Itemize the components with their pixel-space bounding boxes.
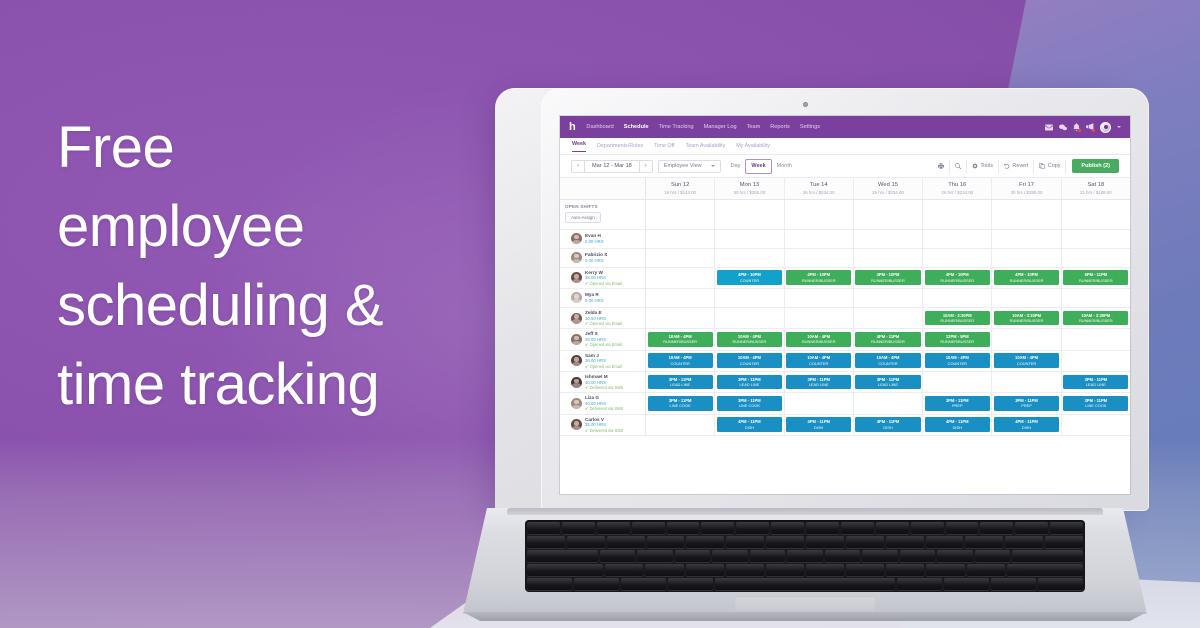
keyboard-key [862,550,897,562]
shift-block[interactable]: 10AM - 3:30PMRUNNER/BUSSER [994,311,1059,326]
shift-cells: 4PM - 11PMDISH4PM - 11PMDISH4PM - 11PMDI… [646,415,1130,435]
drag-handle-icon[interactable]: ⋮ [564,337,568,342]
calendar-cell[interactable]: 3PM - 11PMLEAD LINE [854,372,923,392]
calendar-cell[interactable] [1062,249,1130,267]
keyboard-key [607,536,645,548]
keyboard-key [712,550,747,562]
calendar-cell[interactable] [854,230,923,248]
calendar-cell[interactable] [715,230,784,248]
shift-block[interactable]: 3PM - 11PMLEAD LINE [1063,375,1128,390]
calendar-cell[interactable] [854,200,923,229]
calendar-cell[interactable] [1062,200,1130,229]
shift-cells: 10AM - 3:30PMRUNNER/BUSSER10AM - 3:30PMR… [646,308,1130,328]
shift-block[interactable]: 3PM - 11PMLINE COOK [648,396,713,411]
employee-label-cell[interactable]: ⋮Kerry W38.00 HRS✓ Opened via Email [560,268,646,288]
day-name: Mon 13 [715,182,783,188]
shift-block[interactable]: 3PM - 11PMLEAD LINE [786,375,851,390]
shift-role: RUNNER/BUSSER [925,318,990,323]
shift-block[interactable]: 4PM - 11PMDISH [786,417,851,432]
calendar-cell[interactable] [1062,415,1130,435]
calendar-cell[interactable] [992,289,1061,307]
keyboard-key [806,536,844,548]
calendar-cell[interactable]: 4PM - 11PMDISH [992,415,1061,435]
employee-row: ⋮Zelda E16.50 HRS✓ Opened via Email10AM … [560,308,1130,329]
shift-block[interactable]: 10AM - 3:30PMRUNNER/BUSSER [1063,311,1128,326]
webcam-icon [803,102,808,107]
search-button[interactable] [950,160,967,173]
day-column-header: Sun 12 16 hrs / $144.00 [646,178,715,199]
megaphone-icon[interactable] [1086,123,1094,131]
notification-dot [1092,129,1095,132]
shift-role: RUNNER/BUSSER [925,278,990,283]
calendar-cell[interactable]: 10AM - 4PMCOUNTER [854,351,923,371]
shift-block[interactable]: 3PM - 11PMLEAD LINE [717,375,782,390]
keyboard-key [900,550,935,562]
shift-block[interactable]: 3PM - 11PMLINE COOK [717,396,782,411]
shift-role: RUNNER/BUSSER [717,339,782,344]
drag-handle-icon[interactable]: ⋮ [564,295,568,300]
shift-block[interactable]: 3PM - 11PMLEAD LINE [648,375,713,390]
keyboard-row [527,536,1083,548]
trackpad [735,596,875,611]
calendar-cell[interactable] [785,393,854,413]
calendar-cell[interactable] [785,289,854,307]
keyboard-row [527,550,1083,562]
calendar-cell[interactable] [785,308,854,328]
day-week-month-toggle: Day Week Month [726,160,797,173]
employee-label-cell[interactable]: ⋮Sam J36.00 HRS✓ Opened via Email [560,351,646,371]
calendar-cell[interactable]: 3PM - 11PMLEAD LINE [785,372,854,392]
employee-row: ⋮Liza G40.00 HRS✓ Delivered via SMS3PM -… [560,393,1130,414]
employee-info: Carlos V35.00 HRS✓ Delivered via SMS [585,417,623,433]
shift-cells [646,289,1130,307]
calendar-cell[interactable] [854,393,923,413]
prev-week-button[interactable]: ‹ [572,161,584,172]
avatar[interactable] [571,377,582,388]
shift-block[interactable]: 4PM - 10PMRUNNER/BUSSER [994,270,1059,285]
tools-label: Tools [980,160,993,173]
keyboard-key [726,564,764,576]
check-icon: ✓ [585,428,588,433]
calendar-cell[interactable]: 10AM - 3:30PMRUNNER/BUSSER [992,308,1061,328]
calendar-cell[interactable] [854,249,923,267]
calendar-cell[interactable]: 10AM - 4PMRUNNER/BUSSER [715,329,784,349]
calendar-cell[interactable] [992,329,1061,349]
shift-block[interactable]: 10AM - 4PMCOUNTER [717,353,782,368]
calendar-cell[interactable] [646,289,715,307]
drag-handle-icon[interactable]: ⋮ [564,422,568,427]
keyboard-key [715,578,895,590]
drag-handle-icon[interactable]: ⋮ [564,401,568,406]
avatar[interactable] [571,292,582,303]
drag-handle-icon[interactable]: ⋮ [564,358,568,363]
check-icon: ✓ [585,364,588,369]
shift-role: RUNNER/BUSSER [1063,318,1128,323]
shift-role: LEAD LINE [855,382,920,387]
calendar-cell[interactable] [923,372,992,392]
calendar-cell[interactable]: 5PM - 11PMRUNNER/BUSSER [1062,268,1130,288]
calendar-cell[interactable]: 3PM - 11PMLINE COOK [715,393,784,413]
keyboard-key [567,536,605,548]
shift-role: RUNNER/BUSSER [1063,278,1128,283]
day-column-header: Tue 14 26 hrs / $234.00 [785,178,854,199]
calendar-cell[interactable] [992,249,1061,267]
shift-block[interactable]: 3PM - 11PMPREP [925,396,990,411]
calendar-cell[interactable] [1062,329,1130,349]
shift-block[interactable]: 3PM - 11PMLINE COOK [1063,396,1128,411]
day-column-header: Fri 17 30 hrs / $285.00 [992,178,1061,199]
shift-block[interactable]: 4PM - 11PMDISH [994,417,1059,432]
keyboard-key [600,550,635,562]
calendar-cell[interactable] [854,289,923,307]
calendar-cell[interactable] [1062,289,1130,307]
shift-cells: 3PM - 11PMLEAD LINE3PM - 11PMLEAD LINE3P… [646,372,1130,392]
keyboard-key [926,564,964,576]
open-shifts-label-cell: OPEN SHIFTS Auto-Assign [560,200,646,229]
shift-block[interactable]: 10AM - 4PMCOUNTER [994,353,1059,368]
calendar-cell[interactable]: 10AM - 4PMCOUNTER [785,351,854,371]
shift-block[interactable]: 10AM - 4PMCOUNTER [648,353,713,368]
publish-button[interactable]: Publish (2) [1072,159,1119,173]
keyboard-key [1007,564,1083,576]
notification-dot [1078,129,1081,132]
calendar-cell[interactable]: 3PM - 11PMLEAD LINE [715,372,784,392]
shift-block[interactable]: 10AM - 4PMCOUNTER [925,353,990,368]
date-range-label[interactable]: Mar 12 - Mar 18 [584,161,640,172]
calendar-cell[interactable]: 3PM - 11PMLEAD LINE [1062,372,1130,392]
keyboard-key [1005,536,1043,548]
avatar[interactable] [571,398,582,409]
open-shift-cells [646,200,1130,229]
avatar[interactable] [571,252,582,263]
employee-row: ⋮Evan H0.00 HRS [560,230,1130,249]
calendar-cell[interactable]: 4PM - 10PMRUNNER/BUSSER [923,268,992,288]
tab-time-off[interactable]: Time Off [654,143,674,149]
calendar-cell[interactable] [923,249,992,267]
keyboard-key [886,536,924,548]
day-summary: 16 hrs / $144.00 [646,190,714,195]
calendar-cell[interactable] [646,268,715,288]
calendar-cell[interactable] [715,289,784,307]
shift-block[interactable]: 12PM - 5PMRUNNER/BUSSER [925,332,990,347]
shift-block[interactable]: 4PM - 10PMCOUNTER [717,270,782,285]
calendar-cell[interactable] [715,200,784,229]
calendar-cell[interactable] [1062,351,1130,371]
next-week-button[interactable]: › [640,161,652,172]
calendar-cell[interactable]: 4PM - 11PMDISH [785,415,854,435]
shift-block[interactable]: 10AM - 4PMCOUNTER [786,353,851,368]
calendar-cell[interactable] [1062,230,1130,248]
keyboard-key [1012,550,1083,562]
shift-role: RUNNER/BUSSER [855,339,920,344]
employee-info: Evan H0.00 HRS [585,233,604,244]
calendar-cell[interactable] [785,249,854,267]
shift-block[interactable]: 3PM - 11PMPREP [994,396,1059,411]
calendar-cell[interactable] [854,308,923,328]
chevron-down-icon[interactable] [1117,126,1121,128]
shift-block[interactable]: 4PM - 11PMRUNNER/BUSSER [855,332,920,347]
shift-role: RUNNER/BUSSER [786,339,851,344]
avatar[interactable] [571,419,582,430]
shift-role: PREP [994,403,1059,408]
employee-label-cell[interactable]: ⋮Mya R0.00 HRS [560,289,646,307]
keyboard-key [1038,578,1083,590]
calendar-cell[interactable] [992,230,1061,248]
drag-handle-icon[interactable]: ⋮ [564,255,568,260]
employee-label-cell[interactable]: ⋮Carlos V35.00 HRS✓ Delivered via SMS [560,415,646,435]
day-name: Wed 15 [854,182,922,188]
keyboard-key [675,550,710,562]
copy-button[interactable]: Copy [1034,160,1066,173]
auto-assign-button[interactable]: Auto-Assign [565,212,601,223]
calendar-cell[interactable] [715,249,784,267]
employee-info: Jeff S28.00 HRS✓ Opened via Email [585,331,622,347]
shift-role: COUNTER [925,361,990,366]
calendar-cell[interactable]: 10AM - 4PMCOUNTER [923,351,992,371]
shift-block[interactable]: 3PM - 11PMLEAD LINE [855,375,920,390]
keyboard-key [574,578,619,590]
calendar-cell[interactable]: 3PM - 11PMLINE COOK [646,393,715,413]
calendar-cell[interactable]: 4PM - 11PMRUNNER/BUSSER [854,329,923,349]
avatar[interactable] [571,355,582,366]
drag-handle-icon[interactable]: ⋮ [564,380,568,385]
calendar-cell[interactable]: 10AM - 3:30PMRUNNER/BUSSER [1062,308,1130,328]
employee-row: ⋮Kerry W38.00 HRS✓ Opened via Email4PM -… [560,268,1130,289]
calendar-cell[interactable] [923,289,992,307]
keyboard-key [965,536,1003,548]
calendar-cell[interactable]: 4PM - 11PMDISH [923,415,992,435]
employee-info: Zelda E16.50 HRS✓ Opened via Email [585,310,622,326]
top-nav-items: Dashboard Schedule Time Tracking Manager… [586,124,820,130]
keyboard-key [766,536,804,548]
day-name: Sun 12 [646,182,714,188]
shift-cells: 10AM - 4PMCOUNTER10AM - 4PMCOUNTER10AM -… [646,351,1130,371]
shift-block[interactable]: 10AM - 4PMRUNNER/BUSSER [648,332,713,347]
calendar-cell[interactable] [646,249,715,267]
drag-handle-icon[interactable]: ⋮ [564,316,568,321]
homebase-logo[interactable]: h [569,122,575,133]
employee-delivery-status: ✓ Delivered via SMS [585,385,623,390]
shift-block[interactable]: 4PM - 11PMDISH [925,417,990,432]
check-icon: ✓ [585,321,588,326]
calendar-cell[interactable]: 3PM - 11PMLINE COOK [1062,393,1130,413]
avatar[interactable] [1100,122,1111,133]
keyboard-key [991,578,1036,590]
shift-block[interactable]: 10AM - 4PMCOUNTER [855,353,920,368]
shift-block[interactable]: 10AM - 4PMRUNNER/BUSSER [786,332,851,347]
day-summary: 30 hrs / $285.00 [992,190,1060,195]
calendar-cell[interactable] [646,308,715,328]
shift-cells [646,230,1130,248]
employee-label-cell[interactable]: ⋮Jeff S28.00 HRS✓ Opened via Email [560,329,646,349]
employee-row: ⋮Jeff S28.00 HRS✓ Opened via Email10AM -… [560,329,1130,350]
keyboard-key [975,550,1010,562]
laptop-base [463,508,1147,626]
calendar-cell[interactable] [923,200,992,229]
calendar-cell[interactable]: 10AM - 4PMCOUNTER [715,351,784,371]
gear-icon [972,163,978,169]
calendar-cell[interactable] [992,372,1061,392]
keyboard-key [1050,522,1083,534]
revert-label: Revert [1012,160,1028,173]
laptop-base-body [463,508,1147,614]
calendar-cell[interactable]: 3PM - 11PMLEAD LINE [646,372,715,392]
employee-label-cell[interactable]: ⋮Ishmael M40.00 HRS✓ Delivered via SMS [560,372,646,392]
nav-item-manager-log[interactable]: Manager Log [704,124,737,130]
calendar-cell[interactable] [785,230,854,248]
laptop-front-edge [463,612,1147,621]
calendar-cell[interactable] [715,308,784,328]
employee-delivery-status: ✓ Opened via Email [585,364,622,369]
calendar-cell[interactable]: 3PM - 11PMPREP [992,393,1061,413]
keyboard-key [605,564,643,576]
calendar-cell[interactable] [646,200,715,229]
day-summary: 21 hrs / $189.00 [1062,190,1130,195]
calendar-cell[interactable]: 4PM - 10PMRUNNER/BUSSER [854,268,923,288]
employee-row: ⋮Carlos V35.00 HRS✓ Delivered via SMS4PM… [560,415,1130,436]
tab-departments-roles[interactable]: Departments/Roles [597,143,643,149]
calendar-cell[interactable] [646,415,715,435]
shift-role: DISH [855,425,920,430]
employee-delivery-status: ✓ Opened via Email [585,342,622,347]
nav-item-dashboard[interactable]: Dashboard [586,124,613,130]
employee-delivery-status: ✓ Opened via Email [585,321,622,326]
revert-button[interactable]: Revert [999,160,1034,173]
calendar-cell[interactable]: 4PM - 10PMRUNNER/BUSSER [785,268,854,288]
shift-cells: 10AM - 4PMRUNNER/BUSSER10AM - 4PMRUNNER/… [646,329,1130,349]
day-name: Thu 16 [923,182,991,188]
keyboard-key [645,564,683,576]
calendar-cell[interactable]: 10AM - 4PMRUNNER/BUSSER [646,329,715,349]
keyboard-key [1045,536,1083,548]
tab-team-availability[interactable]: Team Availability [686,143,726,149]
calendar-cell[interactable]: 4PM - 11PMDISH [854,415,923,435]
nav-item-reports[interactable]: Reports [770,124,790,130]
day-summary: 30 hrs / $285.00 [715,190,783,195]
envelope-icon[interactable] [1045,124,1053,131]
copy-icon [1039,163,1045,169]
shift-block[interactable]: 10AM - 4PMRUNNER/BUSSER [717,332,782,347]
calendar-cell[interactable]: 4PM - 11PMDISH [715,415,784,435]
keyboard-key [527,578,572,590]
keyboard-key [527,564,603,576]
employee-hours: 0.00 HRS [585,239,604,244]
employee-label-cell[interactable]: ⋮Fabrizio S0.00 HRS [560,249,646,267]
toolbar-actions: Tools Revert Copy Publish (2) [933,159,1119,173]
drag-handle-icon[interactable]: ⋮ [564,275,568,280]
search-icon [955,163,961,169]
tab-week[interactable]: Week [572,141,586,152]
nav-item-schedule[interactable]: Schedule [624,124,649,130]
laptop-hinge [507,508,1103,515]
calendar-cell[interactable] [646,230,715,248]
employee-name: Evan H [585,233,604,239]
shift-block[interactable]: 4PM - 10PMRUNNER/BUSSER [925,270,990,285]
employee-info: Fabrizio S0.00 HRS [585,252,607,263]
shift-role: COUNTER [855,361,920,366]
employee-label-cell[interactable]: ⋮Zelda E16.50 HRS✓ Opened via Email [560,308,646,328]
tools-button[interactable]: Tools [967,160,999,173]
chat-icon[interactable] [1059,124,1067,131]
calendar-cell[interactable] [923,230,992,248]
keyboard-key [926,536,964,548]
employee-info: Mya R0.00 HRS [585,292,604,303]
avatar[interactable] [571,233,582,244]
day-column-header: Sat 18 21 hrs / $189.00 [1062,178,1130,199]
calendar-cell[interactable] [785,200,854,229]
employee-row: ⋮Mya R0.00 HRS [560,289,1130,308]
print-button[interactable] [933,160,950,173]
shift-block[interactable]: 4PM - 11PMDISH [855,417,920,432]
top-nav-actions [1045,122,1121,133]
shift-block[interactable]: 4PM - 10PMRUNNER/BUSSER [855,270,920,285]
shift-role: LEAD LINE [786,382,851,387]
employee-label-cell[interactable]: ⋮Evan H0.00 HRS [560,230,646,248]
day-column-header: Mon 13 30 hrs / $285.00 [715,178,784,199]
shift-role: RUNNER/BUSSER [786,278,851,283]
calendar-cell[interactable]: 10AM - 3:30PMRUNNER/BUSSER [923,308,992,328]
bell-icon[interactable] [1073,123,1080,131]
employee-label-cell[interactable]: ⋮Liza G40.00 HRS✓ Delivered via SMS [560,393,646,413]
shift-role: DISH [786,425,851,430]
keyboard [525,520,1085,592]
keyboard-key [846,536,884,548]
shift-role: RUNNER/BUSSER [855,278,920,283]
keyboard-row [527,564,1083,576]
calendar-cell[interactable]: 12PM - 5PMRUNNER/BUSSER [923,329,992,349]
drag-handle-icon[interactable]: ⋮ [564,236,568,241]
keyboard-key [1015,522,1048,534]
calendar-cell[interactable]: 10AM - 4PMCOUNTER [646,351,715,371]
employee-rows: ⋮Evan H0.00 HRS⋮Fabrizio S0.00 HRS⋮Kerry… [560,230,1130,436]
shift-role: RUNNER/BUSSER [648,339,713,344]
copy-label: Copy [1048,160,1061,173]
calendar-cell[interactable]: 3PM - 11PMPREP [923,393,992,413]
nav-item-team[interactable]: Team [747,124,761,130]
nav-item-time-tracking[interactable]: Time Tracking [659,124,694,130]
shift-block[interactable]: 4PM - 10PMRUNNER/BUSSER [786,270,851,285]
toggle-week[interactable]: Week [745,159,771,174]
shift-block[interactable]: 10AM - 3:30PMRUNNER/BUSSER [925,311,990,326]
avatar[interactable] [571,272,582,283]
avatar[interactable] [571,313,582,324]
employee-info: Ishmael M40.00 HRS✓ Delivered via SMS [585,374,623,390]
chevron-down-icon [711,165,715,167]
shift-block[interactable]: 4PM - 11PMDISH [717,417,782,432]
calendar-cell[interactable]: 4PM - 10PMCOUNTER [715,268,784,288]
toggle-month[interactable]: Month [772,160,797,173]
view-select-dropdown[interactable]: Employee View [658,160,721,173]
day-column-header: Thu 16 26 hrs / $234.00 [923,178,992,199]
employee-row: ⋮Sam J36.00 HRS✓ Opened via Email10AM - … [560,351,1130,372]
shift-role: COUNTER [717,361,782,366]
day-name: Fri 17 [992,182,1060,188]
shift-role: LEAD LINE [1063,382,1128,387]
schedule-calendar: Sun 12 16 hrs / $144.00 Mon 13 30 hrs / … [560,178,1130,436]
calendar-cell[interactable] [992,200,1061,229]
tab-my-availability[interactable]: My Availability [736,143,770,149]
shift-block[interactable]: 5PM - 11PMRUNNER/BUSSER [1063,270,1128,285]
employee-info: Kerry W38.00 HRS✓ Opened via Email [585,270,622,286]
calendar-cell[interactable]: 10AM - 4PMCOUNTER [992,351,1061,371]
avatar[interactable] [571,334,582,345]
shift-cells [646,249,1130,267]
calendar-cell[interactable]: 4PM - 10PMRUNNER/BUSSER [992,268,1061,288]
nav-item-settings[interactable]: Settings [800,124,820,130]
toggle-day[interactable]: Day [726,160,746,173]
day-column-header: Wed 15 26 hrs / $234.00 [854,178,923,199]
calendar-cell[interactable]: 10AM - 4PMRUNNER/BUSSER [785,329,854,349]
